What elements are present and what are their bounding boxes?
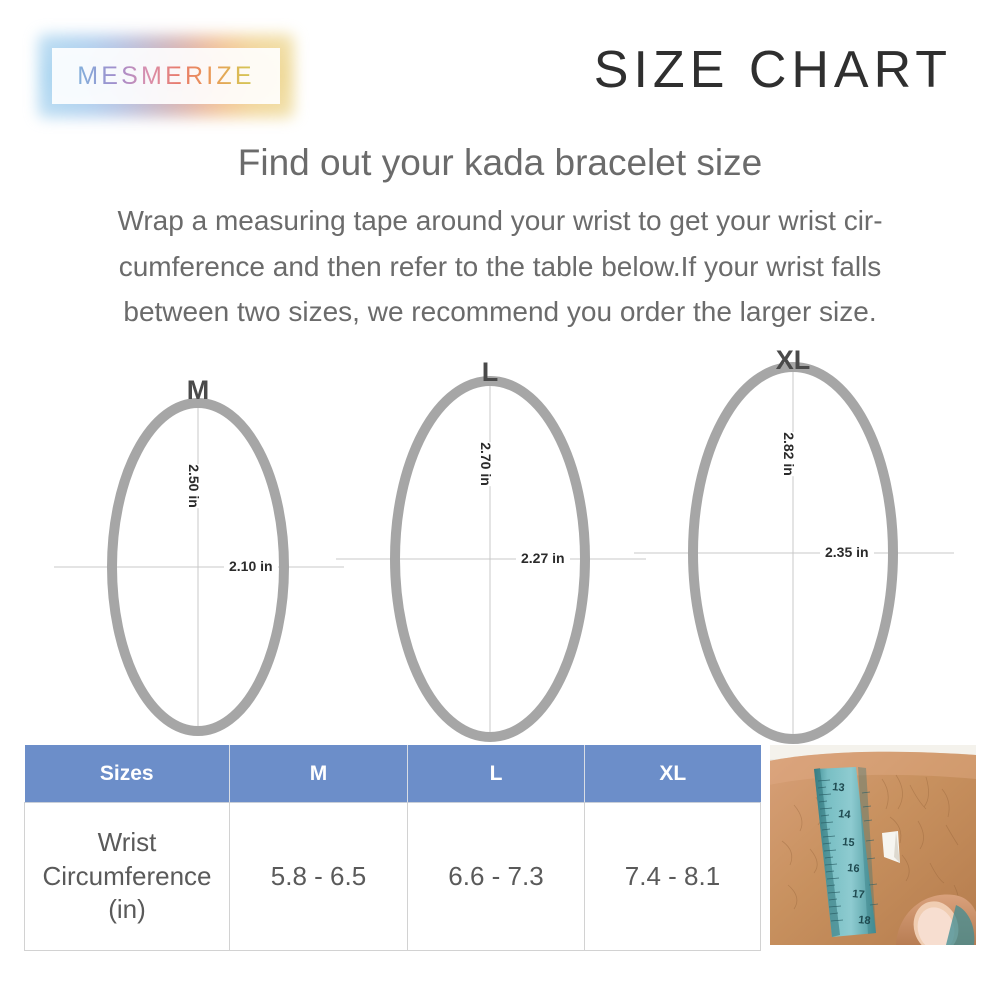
tape-mark-15: 15 <box>842 836 855 849</box>
wrist-photo-illustration: 13 14 15 16 17 18 <box>770 745 976 945</box>
tape-mark-14: 14 <box>838 808 852 821</box>
cell-wrist-l: 6.6 - 7.3 <box>408 803 585 951</box>
bangle-height-xl: 2.82 in <box>778 432 800 476</box>
cell-wrist-m: 5.8 - 6.5 <box>230 803 408 951</box>
table-header-row: Sizes M L XL <box>25 745 761 803</box>
brand-logo-text: MESMERIZE <box>52 48 280 104</box>
intro-body: Wrap a measuring tape around your wrist … <box>44 198 956 334</box>
table-header-l: L <box>408 745 585 803</box>
table-row: Wrist Circumference (in) 5.8 - 6.5 6.6 -… <box>25 803 761 951</box>
bangle-ring-xl <box>628 345 958 745</box>
tape-mark-18: 18 <box>858 914 871 927</box>
page-title: SIZE CHART <box>594 40 952 100</box>
tape-mark-17: 17 <box>852 888 865 901</box>
row-label-line-3: (in) <box>108 894 146 924</box>
intro-heading: Find out your kada bracelet size <box>0 140 1000 186</box>
intro-body-line-2: cumference and then refer to the table b… <box>44 244 956 289</box>
bangle-width-m: 2.10 in <box>224 558 278 574</box>
bangle-diagram-l: L 2.70 in 2.27 in <box>330 345 650 745</box>
table-header-sizes: Sizes <box>25 745 230 803</box>
bangle-ring-l <box>330 345 650 745</box>
bangle-width-l: 2.27 in <box>516 550 570 566</box>
row-label-line-1: Wrist <box>98 827 157 857</box>
bangle-diagram-m: M 2.50 in 2.10 in <box>48 345 348 745</box>
bangle-diagram-xl: XL 2.82 in 2.35 in <box>628 345 958 745</box>
bangle-size-label-xl: XL <box>628 345 958 376</box>
row-label-line-2: Circumference <box>42 861 211 891</box>
intro-body-line-3: between two sizes, we recommend you orde… <box>44 289 956 334</box>
bangle-height-m: 2.50 in <box>183 464 205 508</box>
bangle-size-label-m: M <box>48 375 348 406</box>
wrist-measurement-photo: 13 14 15 16 17 18 <box>770 745 976 945</box>
size-table-wrapper: Sizes M L XL Wrist Circumference (in) 5.… <box>24 745 760 945</box>
table-header-m: M <box>230 745 408 803</box>
size-table: Sizes M L XL Wrist Circumference (in) 5.… <box>24 745 761 951</box>
tape-mark-16: 16 <box>847 862 860 875</box>
bangle-width-xl: 2.35 in <box>820 544 874 560</box>
intro-section: Find out your kada bracelet size Wrap a … <box>0 140 1000 334</box>
page-header: MESMERIZE SIZE CHART <box>0 0 1000 128</box>
bangle-height-l: 2.70 in <box>475 442 497 486</box>
intro-body-line-1: Wrap a measuring tape around your wrist … <box>44 198 956 243</box>
bangle-size-label-l: L <box>330 357 650 388</box>
tape-mark-13: 13 <box>832 781 845 794</box>
table-header-xl: XL <box>585 745 761 803</box>
brand-logo: MESMERIZE <box>52 48 280 104</box>
row-label-wrist-circumference: Wrist Circumference (in) <box>25 803 230 951</box>
cell-wrist-xl: 7.4 - 8.1 <box>585 803 761 951</box>
bangle-diagrams: M 2.50 in 2.10 in L 2.70 in 2.27 in XL 2… <box>0 345 1000 745</box>
